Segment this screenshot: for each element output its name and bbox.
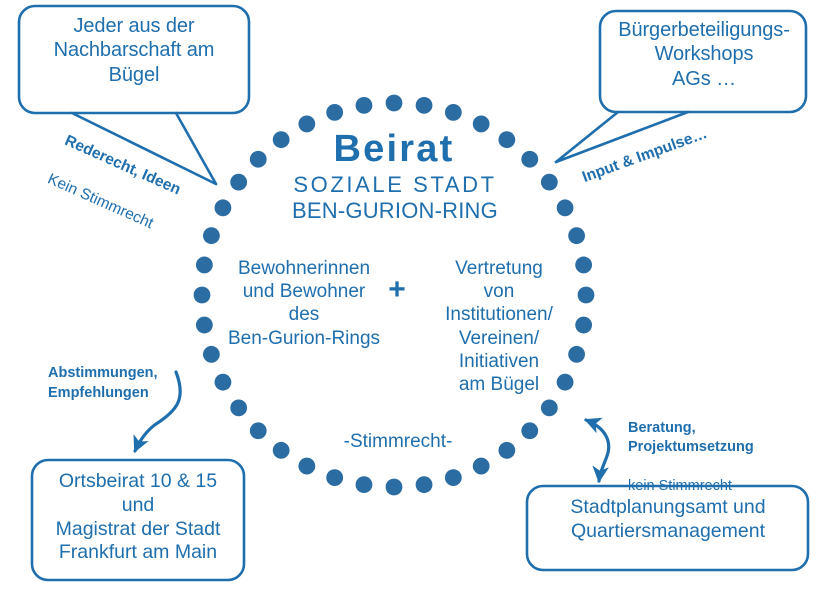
ring-dot (575, 257, 592, 274)
ring-dot (273, 131, 290, 148)
ring-dot (250, 151, 267, 168)
ring-dot (250, 422, 267, 439)
box-bottom-left-text: Ortsbeirat 10 & 15 und Magistrat der Sta… (38, 470, 238, 565)
center-column-right: Vertretung von Institutionen/ Vereinen/ … (424, 257, 574, 396)
ring-dot (326, 469, 343, 486)
box-bottom-right-text: Stadtplanungsamt und Quartiersmanagement (532, 496, 804, 544)
ring-dot (196, 317, 213, 334)
ring-dot (557, 199, 574, 216)
ring-dot (386, 479, 403, 496)
ring-dot (473, 458, 490, 475)
center-column-left: Bewohnerinnen und Bewohner des Ben-Gurio… (216, 257, 392, 350)
ring-dot (203, 227, 220, 244)
ring-dot (386, 95, 403, 112)
arrow-label-stadtplanungsamt-bold: Beratung, Projektumsetzung (628, 419, 798, 457)
center-subtitle-1: SOZIALE STADT (274, 172, 516, 199)
ring-dot (326, 104, 343, 121)
plus-icon: + (382, 275, 412, 305)
ring-dot (416, 476, 433, 493)
center-footer-label: -Stimmrecht- (318, 430, 478, 453)
ring-dot (230, 399, 247, 416)
ring-dot (541, 174, 558, 191)
arrow-label-ortsbeirat: Abstimmungen, Empfehlungen (48, 364, 198, 403)
diagram-canvas: Jeder aus der Nachbarschaft am Bügel Bür… (0, 0, 820, 600)
arrow-to-stadtplanungsamt (586, 420, 609, 481)
ring-dot (298, 458, 315, 475)
speech-bubble-top-left-text: Jeder aus der Nachbarschaft am Bügel (26, 14, 242, 87)
ring-dot (215, 199, 232, 216)
ring-dot (230, 174, 247, 191)
page-title: Beirat (294, 126, 494, 172)
ring-dot (568, 227, 585, 244)
ring-dot (273, 442, 290, 459)
ring-dot (445, 469, 462, 486)
ring-dot (541, 399, 558, 416)
ring-dot (521, 151, 538, 168)
ring-dot (356, 97, 373, 114)
ring-dot (445, 104, 462, 121)
ring-dot (498, 131, 515, 148)
speech-bubble-top-right-text: Bürgerbeteiligungs- Workshops AGs … (604, 18, 804, 91)
ring-dot (521, 422, 538, 439)
ring-dot (575, 317, 592, 334)
ring-dot (356, 476, 373, 493)
ring-dot (196, 257, 213, 274)
arrow-label-stadtplanungsamt-regular: kein Stimmrecht (628, 477, 798, 496)
center-subtitle-2: BEN-GURION-RING (274, 198, 516, 225)
bubble-tail-top-right-a (556, 112, 618, 162)
ring-dot (215, 374, 232, 391)
ring-dot (416, 97, 433, 114)
ring-dot (194, 287, 211, 304)
ring-dot (498, 442, 515, 459)
ring-dot (578, 287, 595, 304)
